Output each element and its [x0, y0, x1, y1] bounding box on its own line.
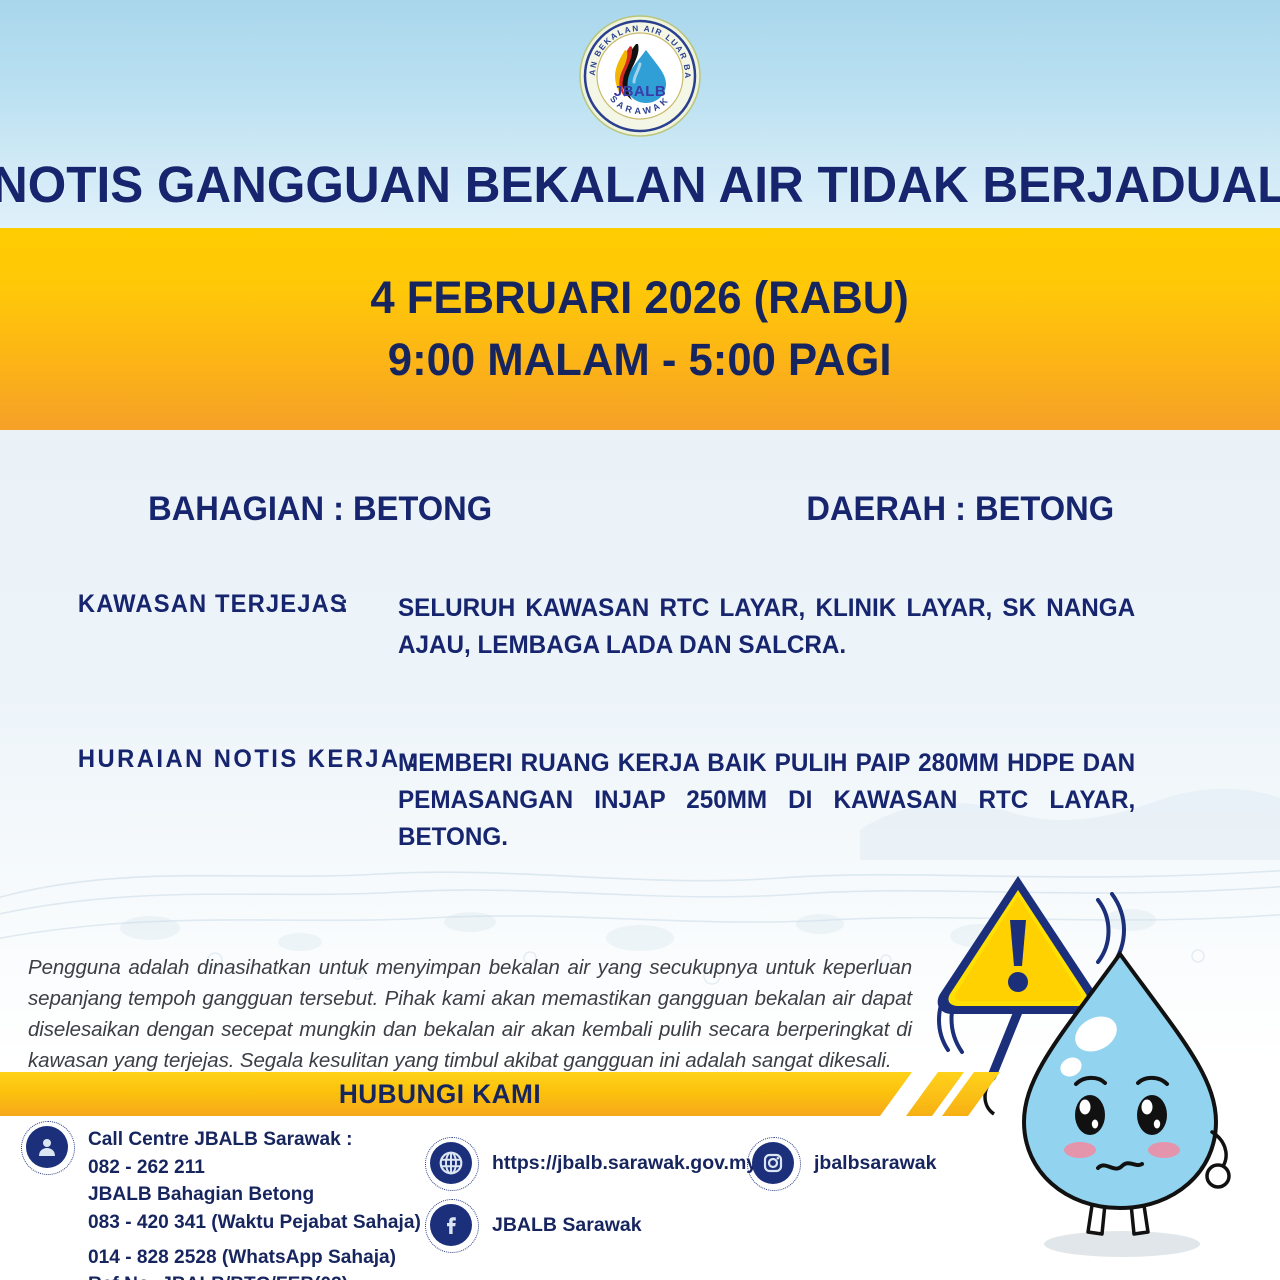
call-centre-line1: Call Centre JBALB Sarawak : [88, 1126, 421, 1154]
district-cell: DAERAH : BETONG [640, 490, 1280, 529]
work-description-value: MEMBERI RUANG KERJA BAIK PULIH PAIP 280M… [398, 745, 1135, 856]
division-label: BAHAGIAN : BETONG [148, 490, 492, 529]
whatsapp-phone[interactable]: 014 - 828 2528 (WhatsApp Sahaja) [88, 1244, 421, 1272]
region-row: BAHAGIAN : BETONG DAERAH : BETONG [0, 490, 1280, 529]
affected-areas-colon: : [340, 590, 398, 664]
notice-date: 4 FEBRUARI 2026 (RABU) [371, 267, 909, 329]
notice-time: 9:00 MALAM - 5:00 PAGI [388, 329, 892, 391]
warning-triangle-icon [938, 876, 1099, 1014]
district-label: DAERAH : BETONG [806, 490, 1114, 529]
page-title: NOTIS GANGGUAN BEKALAN AIR TIDAK BERJADU… [0, 155, 1280, 214]
facebook-icon [430, 1204, 472, 1246]
field-affected-areas: KAWASAN TERJEJAS : SELURUH KAWASAN RTC L… [0, 590, 1280, 664]
call-centre-block: Call Centre JBALB Sarawak : 082 - 262 21… [26, 1126, 428, 1280]
contact-banner-title: HUBUNGI KAMI [13, 1072, 867, 1116]
branch-name: JBALB Bahagian Betong [88, 1181, 421, 1209]
field-work-description: HURAIAN NOTIS KERJA : MEMBERI RUANG KERJ… [0, 745, 1280, 856]
globe-icon [430, 1142, 472, 1184]
svg-text:JBALB: JBALB [614, 83, 667, 100]
branch-phone[interactable]: 083 - 420 341 (Waktu Pejabat Sahaja) [88, 1209, 421, 1237]
website-block[interactable]: https://jbalb.sarawak.gov.my/ [430, 1142, 763, 1184]
facebook-block[interactable]: JBALB Sarawak [430, 1204, 642, 1246]
poster-header: JABATAN BEKALAN AIR LUAR BANDAR SARAWAK … [0, 0, 1280, 228]
division-cell: BAHAGIAN : BETONG [0, 490, 640, 529]
instagram-block[interactable]: jbalbsarawak [752, 1142, 936, 1184]
disclaimer-text: Pengguna adalah dinasihatkan untuk menyi… [28, 952, 912, 1077]
instagram-icon [752, 1142, 794, 1184]
notice-poster: JABATAN BEKALAN AIR LUAR BANDAR SARAWAK … [0, 0, 1280, 1280]
call-centre-lines: Call Centre JBALB Sarawak : 082 - 262 21… [88, 1126, 428, 1280]
jbalb-logo: JABATAN BEKALAN AIR LUAR BANDAR SARAWAK … [578, 14, 702, 138]
person-icon [26, 1126, 68, 1168]
reference-number: Ref.No: JBALB/BTG/FEB(03) [88, 1271, 421, 1280]
call-centre-phone[interactable]: 082 - 262 211 [88, 1154, 421, 1182]
instagram-handle[interactable]: jbalbsarawak [814, 1142, 936, 1184]
affected-areas-value: SELURUH KAWASAN RTC LAYAR, KLINIK LAYAR,… [398, 590, 1135, 664]
title-bar: NOTIS GANGGUAN BEKALAN AIR TIDAK BERJADU… [0, 140, 1280, 228]
facebook-handle[interactable]: JBALB Sarawak [492, 1204, 642, 1246]
contact-footer: Call Centre JBALB Sarawak : 082 - 262 21… [0, 1116, 1280, 1280]
work-description-label: HURAIAN NOTIS KERJA : [0, 745, 323, 856]
date-time-banner: 4 FEBRUARI 2026 (RABU) 9:00 MALAM - 5:00… [0, 228, 1280, 430]
website-url[interactable]: https://jbalb.sarawak.gov.my/ [492, 1142, 763, 1184]
affected-areas-label: KAWASAN TERJEJAS [0, 590, 323, 664]
contact-banner-wrap: HUBUNGI KAMI [0, 1072, 1280, 1116]
